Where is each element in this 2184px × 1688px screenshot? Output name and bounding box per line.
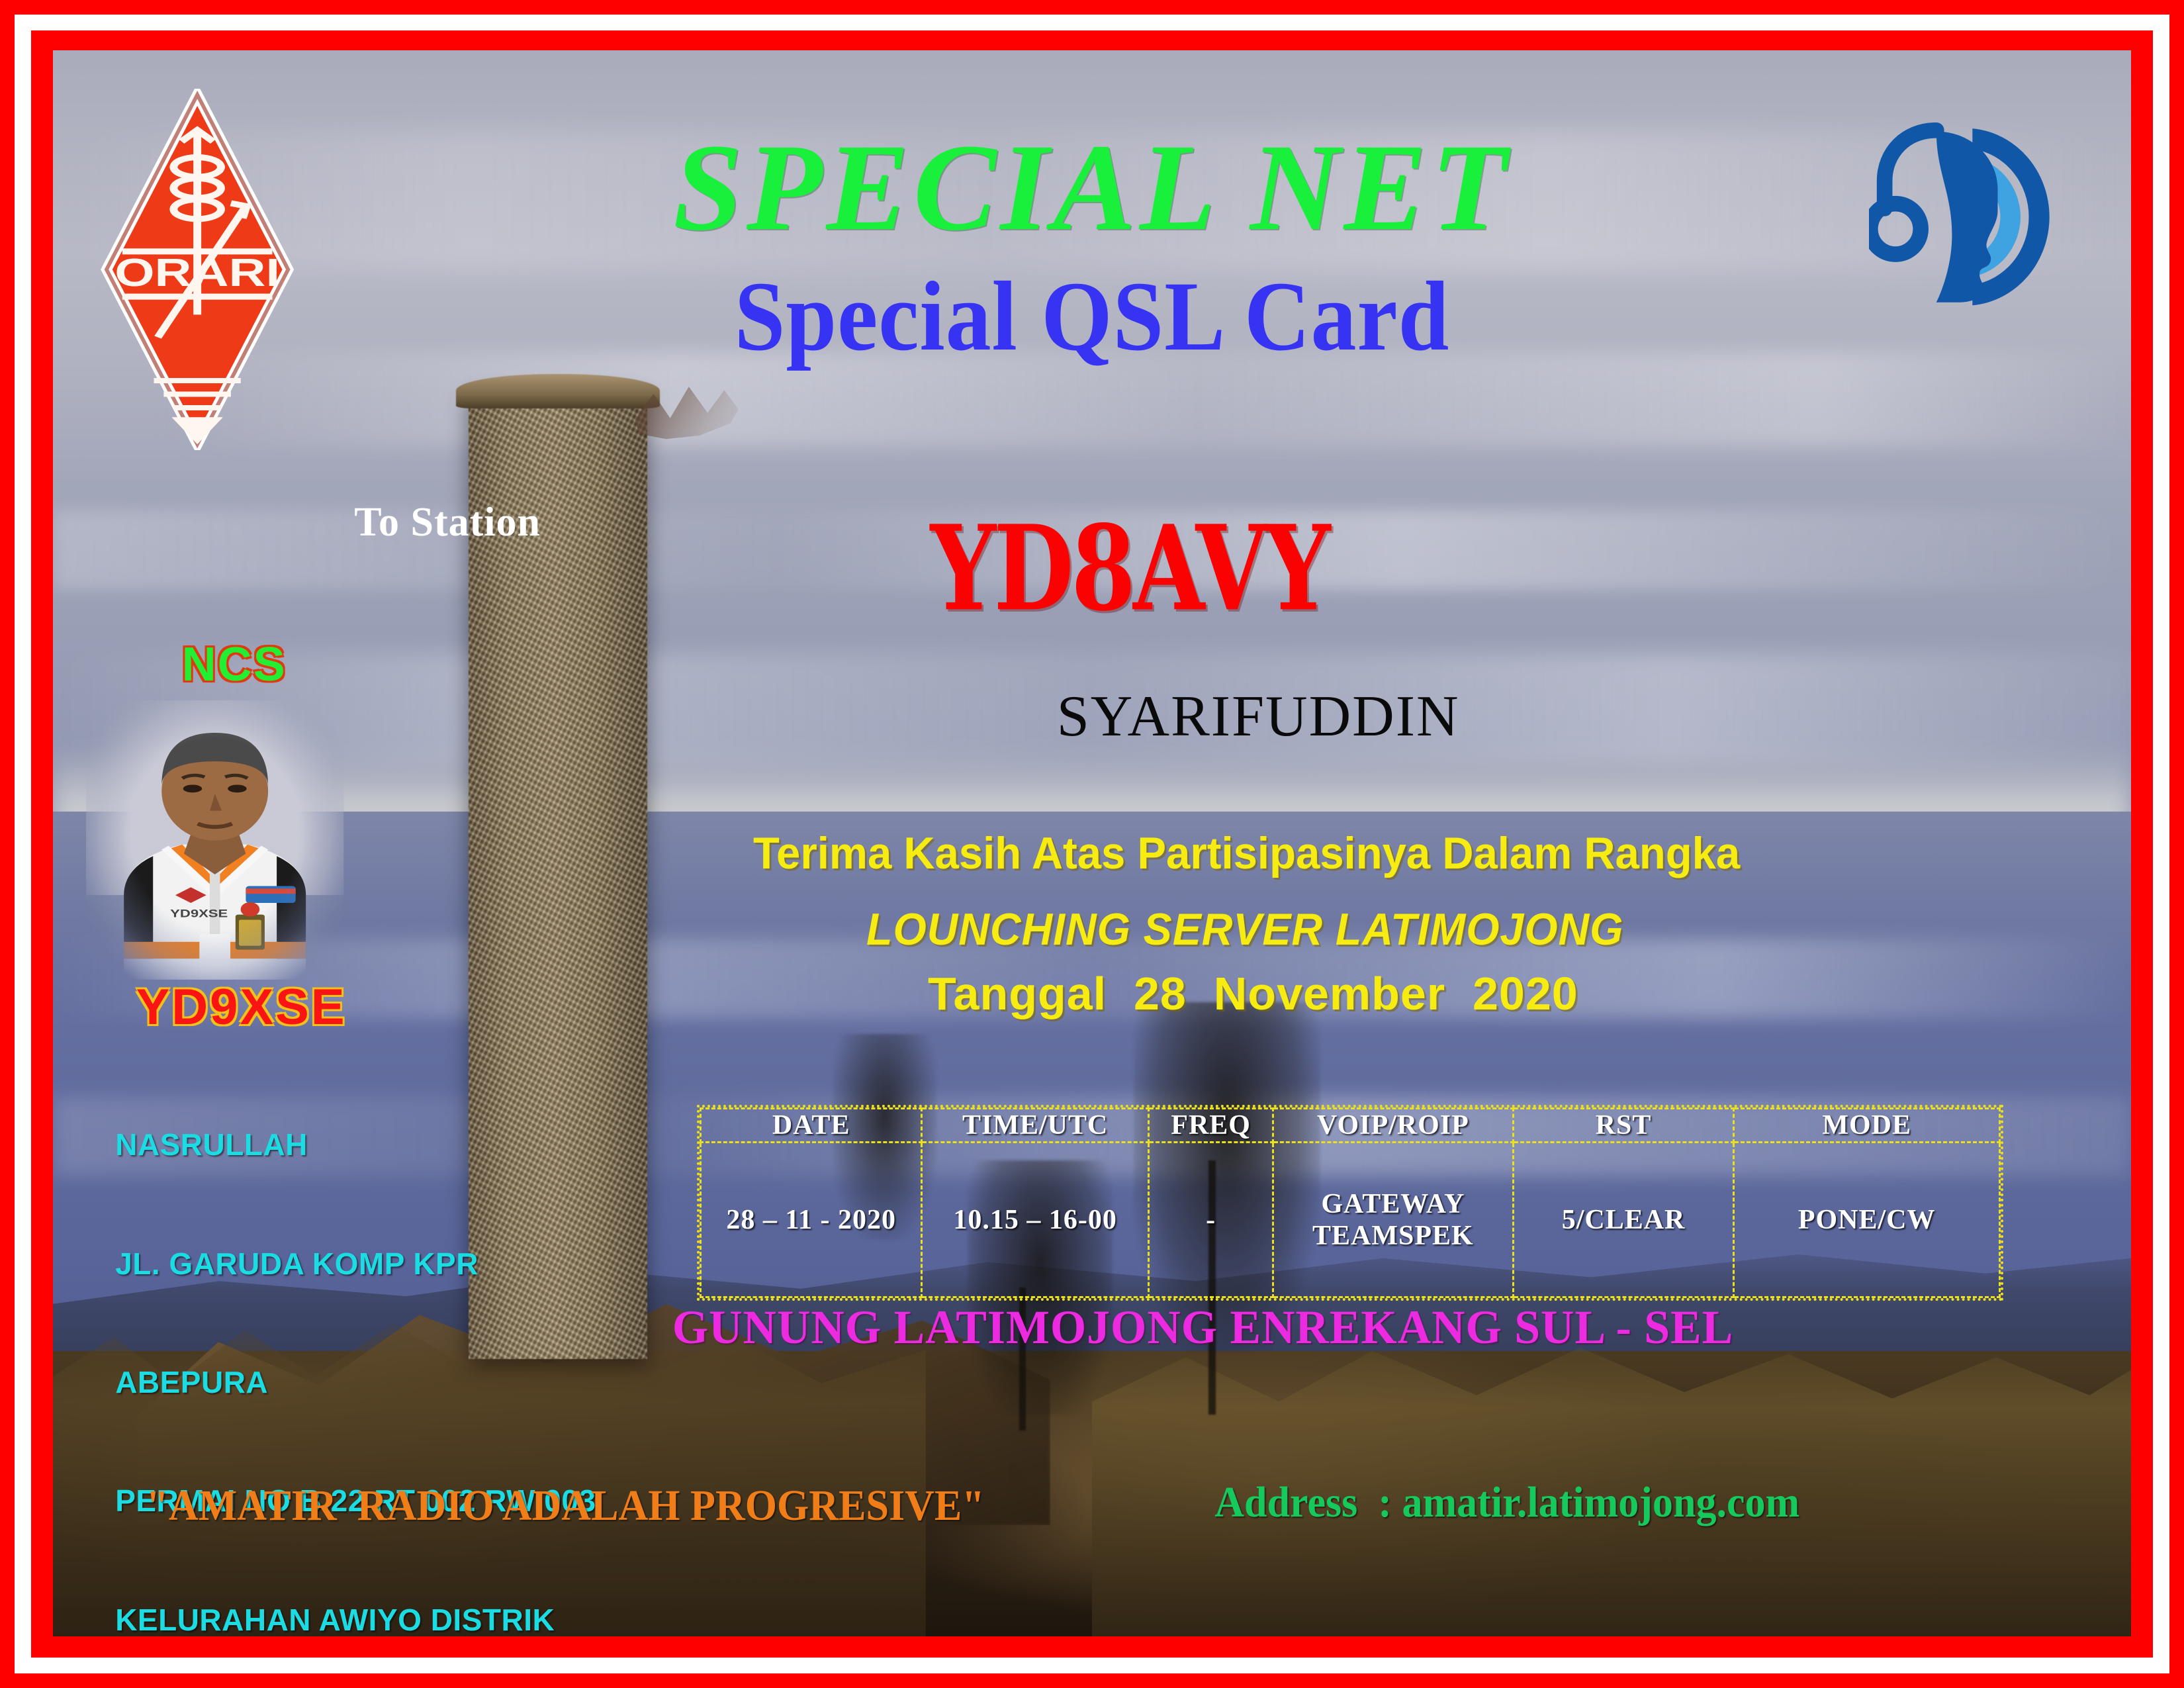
ncs-label: NCS: [182, 637, 287, 692]
column-header-voip: VOIP/ROIP: [1273, 1109, 1514, 1143]
qso-log-table: DATE TIME/UTC FREQ VOIP/ROIP RST MODE 28…: [697, 1105, 2003, 1301]
cell-freq: -: [1149, 1143, 1273, 1297]
ncs-callsign: YD9XSE: [136, 978, 347, 1036]
thanks-message: Terima Kasih Atas Partisipasinya Dalam R…: [95, 827, 2089, 879]
column-header-freq: FREQ: [1149, 1109, 1273, 1143]
cell-date: 28 – 11 - 2020: [701, 1143, 922, 1297]
column-header-time: TIME/UTC: [921, 1109, 1148, 1143]
cell-mode: PONE/CW: [1734, 1143, 2000, 1297]
column-header-rst: RST: [1513, 1109, 1734, 1143]
address-line: NASRULLAH: [115, 1125, 596, 1165]
qsl-card: ORARI: [0, 0, 2184, 1688]
table-row: 28 – 11 - 2020 10.15 – 16-00 - GATEWAY T…: [701, 1143, 2000, 1297]
to-station-label: To Station: [354, 499, 541, 546]
cell-voip-roip: GATEWAY TEAMSPEK: [1273, 1143, 1514, 1297]
cell-rst: 5/CLEAR: [1513, 1143, 1734, 1297]
footer-address: Address : amatir.latimojong.com: [1214, 1477, 1799, 1528]
page-title: SPECIAL NET: [53, 115, 2131, 259]
column-header-mode: MODE: [1734, 1109, 2000, 1143]
station-callsign: YD8AVY: [931, 500, 1328, 637]
page-subtitle: Special QSL Card: [136, 259, 2048, 373]
operator-name: SYARIFUDDIN: [53, 683, 2131, 750]
table-header-row: DATE TIME/UTC FREQ VOIP/ROIP RST MODE: [701, 1109, 2000, 1143]
footer-motto: "AMATIR RADIO ADALAH PROGRESIVE": [146, 1481, 985, 1531]
event-date: Tanggal 28 November 2020: [53, 967, 2131, 1020]
address-line: ABEPURA: [115, 1363, 596, 1403]
cell-time: 10.15 – 16-00: [921, 1143, 1148, 1297]
location-label: GUNUNG LATIMOJONG ENREKANG SUL - SEL: [84, 1300, 2100, 1355]
address-line: KELURAHAN AWIYO DISTRIK: [115, 1601, 596, 1636]
text-layer: SPECIAL NET Special QSL Card To Station …: [53, 50, 2131, 1636]
address-line: JL. GARUDA KOMP KPR: [115, 1244, 596, 1284]
card-background-photo: ORARI: [53, 50, 2131, 1636]
column-header-date: DATE: [701, 1109, 922, 1143]
event-name: LOUNCHING SERVER LATIMOJONG: [105, 904, 2079, 955]
